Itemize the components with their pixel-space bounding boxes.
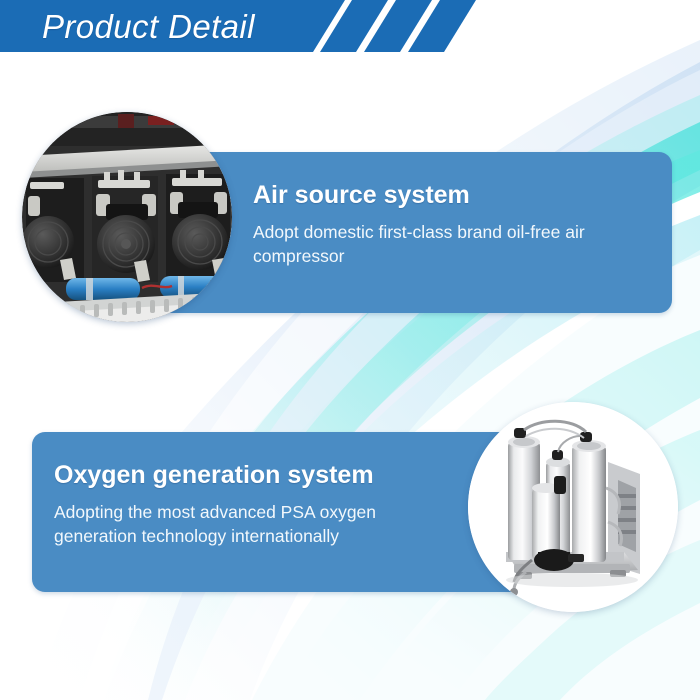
card-title-oxygen-generation-system: Oxygen generation system (54, 460, 374, 490)
page-header-banner: Product Detail (0, 0, 700, 54)
page-title: Product Detail (42, 5, 255, 49)
air-compressor-photo (22, 112, 232, 322)
card-body-air-source-system: Adopt domestic first-class brand oil-fre… (253, 220, 653, 268)
card-body-oxygen-generation-system: Adopting the most advanced PSA oxygen ge… (54, 500, 454, 548)
product-detail-page: Product Detail Air source system Adopt d… (0, 0, 700, 700)
card-title-air-source-system: Air source system (253, 180, 470, 210)
psa-oxygen-generator-photo (468, 402, 678, 612)
